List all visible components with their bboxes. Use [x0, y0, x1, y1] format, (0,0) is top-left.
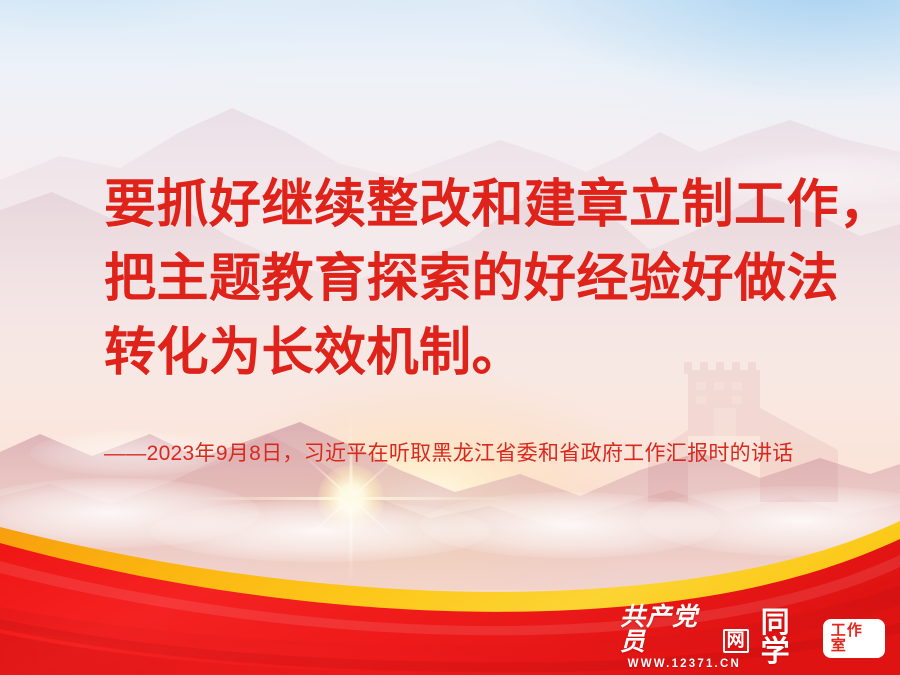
poster-canvas: 要抓好继续整改和建章立制工作， 把主题教育探索的好经验好做法 转化为长效机制。 …	[0, 0, 900, 675]
sky-glow-left	[0, 0, 420, 150]
site-name-text: 共产党员	[620, 605, 719, 655]
studio-name: 同学	[761, 609, 818, 667]
branding-logos: 共产党员网 WWW.12371.CN 同学 工作室	[620, 612, 885, 664]
sky-glow-right	[380, 0, 900, 190]
site-name-box-char: 网	[723, 629, 749, 653]
site-url: WWW.12371.CN	[628, 659, 741, 671]
logo-12371[interactable]: 共产党员网 WWW.12371.CN	[620, 605, 749, 671]
studio-tag: 工作室	[823, 619, 885, 658]
quote-line-3: 转化为长效机制。	[104, 316, 864, 390]
quote-line-1: 要抓好继续整改和建章立制工作，	[104, 168, 864, 242]
site-name: 共产党员网	[620, 605, 749, 655]
quote-block: 要抓好继续整改和建章立制工作， 把主题教育探索的好经验好做法 转化为长效机制。	[104, 168, 864, 390]
logo-studio[interactable]: 同学 工作室	[761, 609, 885, 667]
quote-attribution: ——2023年9月8日，习近平在听取黑龙江省委和省政府工作汇报时的讲话	[104, 440, 794, 468]
quote-line-2: 把主题教育探索的好经验好做法	[104, 242, 864, 316]
